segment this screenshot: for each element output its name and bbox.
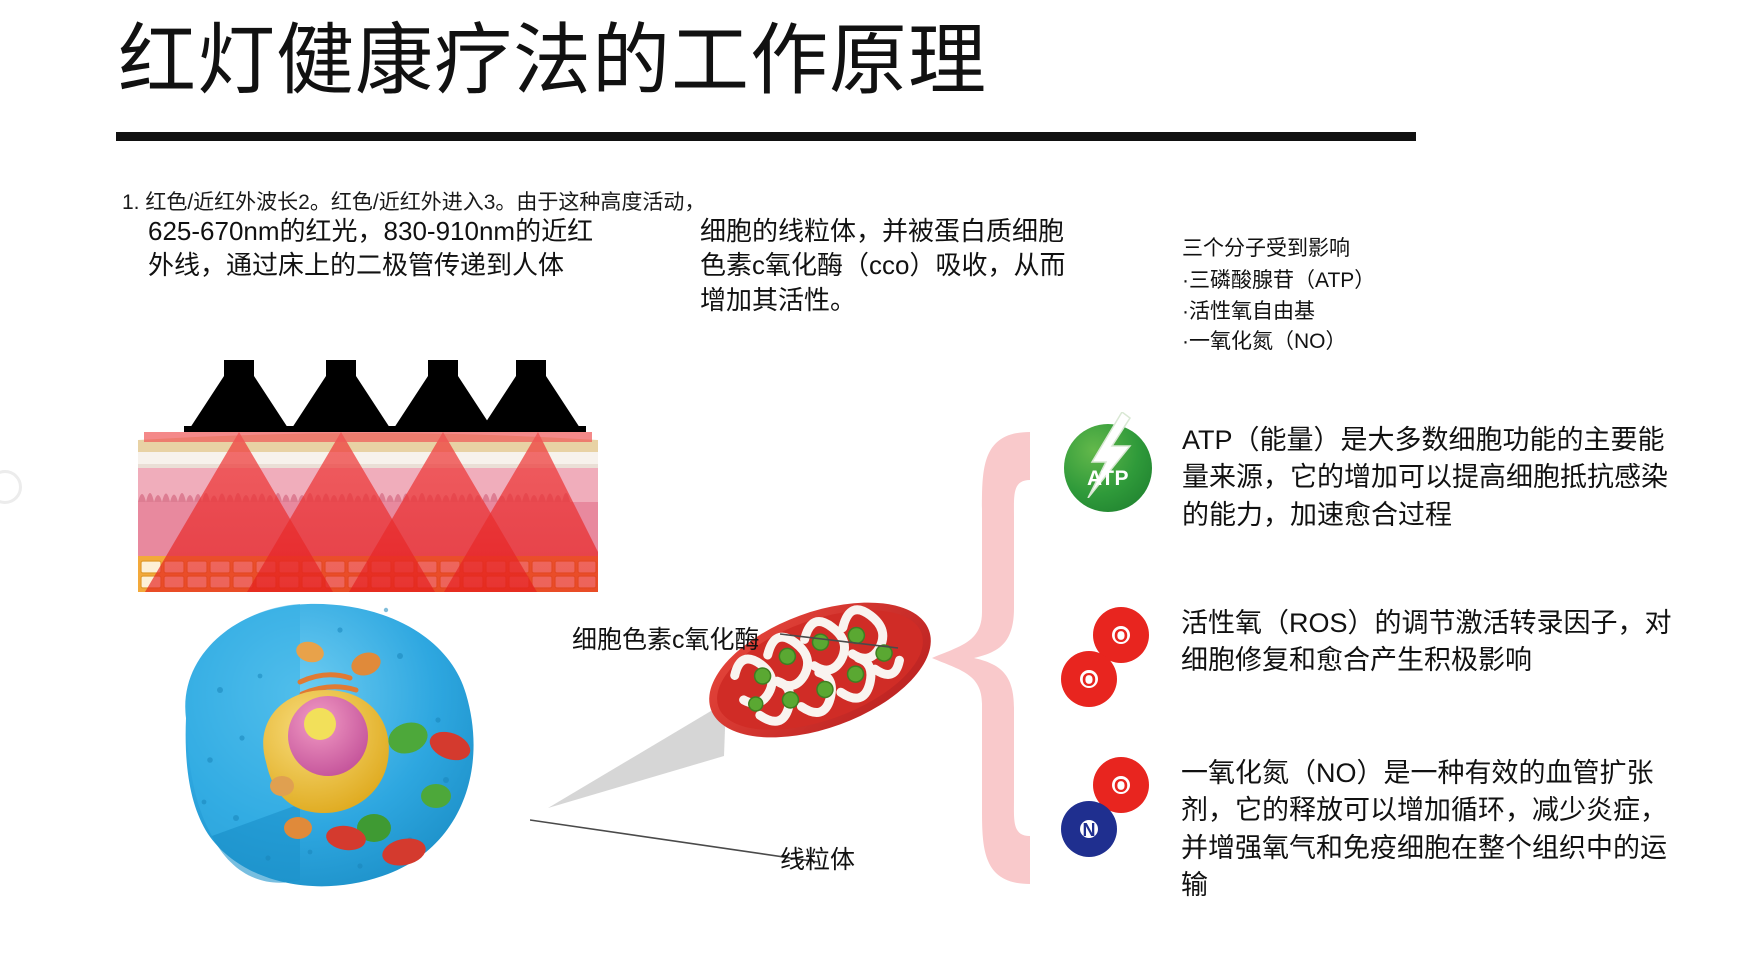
molecule-row-no: O N 一氧化氮（NO）是一种有效的血管扩张剂，它的释放可以增加循环，减少炎症，…: [1055, 755, 1680, 904]
atom-label-o1: O: [1114, 626, 1128, 646]
mitochondrion-illustration: [690, 580, 950, 760]
list-item: ·三磷酸腺苷（ATP）: [1182, 266, 1542, 296]
slide-canvas: 红灯健康疗法的工作原理 1. 红色/近红外波长2。红色/近红外进入3。由于这种高…: [0, 0, 1746, 974]
molecule-row-atp: ATP ATP（能量）是大多数细胞功能的主要能量来源，它的增加可以提高细胞抵抗感…: [1060, 422, 1680, 534]
title-divider: [116, 132, 1416, 141]
nitric-oxide-molecule-icon: O N: [1055, 755, 1159, 859]
animal-cell-illustration: [150, 590, 550, 910]
list-item: ·一氧化氮（NO）: [1182, 327, 1542, 357]
ros-description: 活性氧（ROS）的调节激活转录因子，对细胞修复和愈合产生积极影响: [1181, 605, 1680, 680]
leader-line-mitochondria: [530, 818, 820, 868]
leader-line-cco: [780, 630, 900, 650]
atp-badge-icon: ATP: [1060, 422, 1160, 522]
atp-badge-label: ATP: [1064, 467, 1152, 491]
red-light-panel-on-skin-illustration: [138, 352, 598, 592]
no-description: 一氧化氮（NO）是一种有效的血管扩张剂，它的释放可以增加循环，减少炎症，并增强氧…: [1181, 755, 1680, 904]
led-lamp-heads: [184, 360, 586, 432]
affected-molecules-list: 三个分子受到影响 ·三磷酸腺苷（ATP） ·活性氧自由基 ·一氧化氮（NO）: [1182, 234, 1542, 358]
callout-wavelengths: 625-670nm的红光，830-910nm的近红外线，通过床上的二极管传递到人…: [148, 214, 618, 283]
atom-label-o: O: [1114, 776, 1128, 796]
atom-label-n: N: [1083, 820, 1096, 840]
molecule-row-ros: O O 活性氧（ROS）的调节激活转录因子，对细胞修复和愈合产生积极影响: [1055, 605, 1680, 709]
label-cytochrome-c-oxidase: 细胞色素c氧化酶: [572, 620, 760, 656]
label-mitochondria: 线粒体: [780, 840, 855, 876]
steps-summary-line: 1. 红色/近红外波长2。红色/近红外进入3。由于这种高度活动，: [122, 186, 705, 216]
edge-ring-mark: [0, 470, 22, 504]
page-title: 红灯健康疗法的工作原理: [118, 18, 987, 102]
reactive-oxygen-molecule-icon: O O: [1055, 605, 1159, 709]
list-item: ·活性氧自由基: [1182, 297, 1542, 327]
atom-label-o2: O: [1082, 670, 1096, 690]
affected-molecules-heading: 三个分子受到影响: [1182, 234, 1542, 264]
callout-mitochondria-absorption: 细胞的线粒体，并被蛋白质细胞色素c氧化酶（cco）吸收，从而增加其活性。: [700, 214, 1080, 317]
atp-description: ATP（能量）是大多数细胞功能的主要能量来源，它的增加可以提高细胞抵抗感染的能力…: [1182, 422, 1680, 534]
affected-molecules-items: ·三磷酸腺苷（ATP） ·活性氧自由基 ·一氧化氮（NO）: [1182, 266, 1542, 357]
